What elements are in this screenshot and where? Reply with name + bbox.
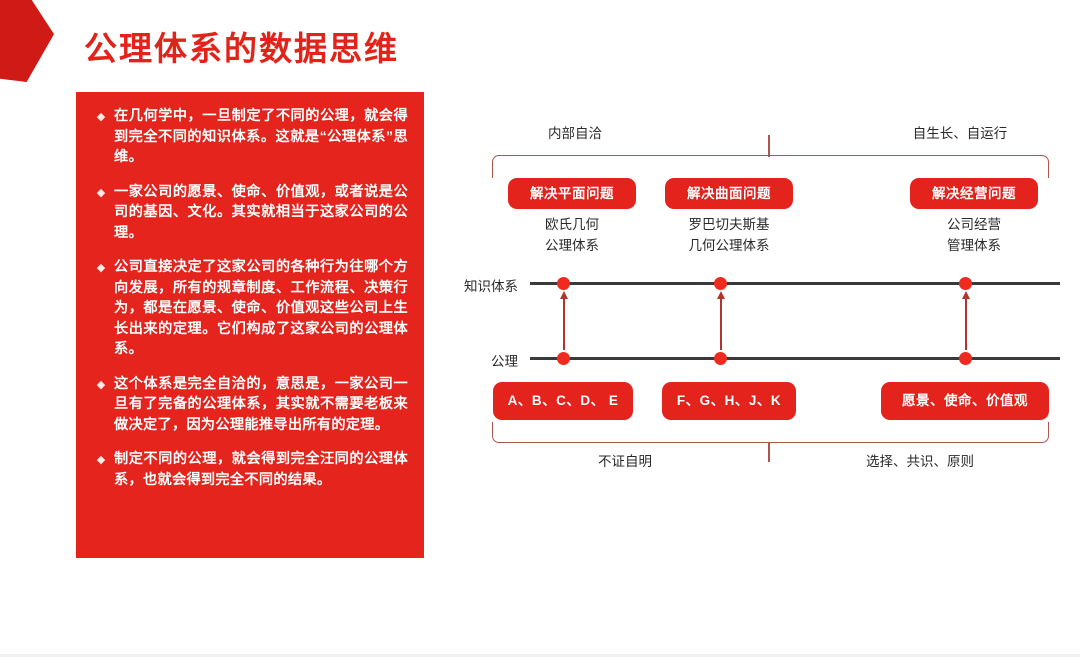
derivation-arrow-2 [720,298,722,350]
bottom-box-vision-mission-values[interactable]: 愿景、使命、价值观 [881,382,1049,420]
top-group-label-right: 自生长、自运行 [913,122,1008,142]
sub-label-lobachevsky: 罗巴切夫斯基 几何公理体系 [689,214,770,256]
top-box-plane-problem[interactable]: 解决平面问题 [508,178,636,209]
top-bracket-divider-tick [768,135,770,157]
bottom-bracket [492,422,1049,443]
top-box-curved-problem[interactable]: 解决曲面问题 [665,178,793,209]
bullet-panel: ◆ 在几何学中，一旦制定了不同的公理，就会得到完全不同的知识体系。这就是“公理体… [76,92,424,558]
knowledge-axis-dot-3 [959,277,972,290]
bottom-bracket-divider-tick [768,442,770,462]
knowledge-axis-dot-2 [714,277,727,290]
bullet-text: 一家公司的愿景、使命、价值观，或者说是公司的基因、文化。其实就相当于这家公司的公… [114,182,408,244]
axiom-axis-dot-3 [959,352,972,365]
axiom-axis-line [530,357,1060,360]
axis-label-axiom: 公理 [440,350,518,370]
knowledge-axis-dot-1 [557,277,570,290]
top-group-label-left: 内部自洽 [548,122,602,142]
list-item: ◆ 一家公司的愿景、使命、价值观，或者说是公司的基因、文化。其实就相当于这家公司… [88,182,408,244]
diamond-bullet-icon: ◆ [88,257,114,279]
knowledge-axis-line [530,282,1060,285]
list-item: ◆ 公司直接决定了这家公司的各种行为往哪个方向发展，所有的规章制度、工作流程、决… [88,257,408,360]
list-item: ◆ 制定不同的公理，就会得到完全汪同的公理体系，也就会得到完全不同的结果。 [88,449,408,490]
diamond-bullet-icon: ◆ [88,374,114,396]
slide-canvas: 公理体系的数据思维 ◆ 在几何学中，一旦制定了不同的公理，就会得到完全不同的知识… [0,0,1080,657]
bottom-group-label-left: 不证自明 [598,450,652,470]
bullet-text: 这个体系是完全自洽的，意思是，一家公司一旦有了完备的公理体系，其实就不需要老板来… [114,374,408,436]
top-bracket [492,155,1049,178]
bottom-group-label-right: 选择、共识、原则 [866,450,974,470]
top-box-business-problem[interactable]: 解决经营问题 [910,178,1038,209]
axiom-axis-dot-2 [714,352,727,365]
bullet-text: 公司直接决定了这家公司的各种行为往哪个方向发展，所有的规章制度、工作流程、决策行… [114,257,408,360]
sub-label-company-management: 公司经营 管理体系 [947,214,1001,256]
bottom-box-axioms-fghjk[interactable]: F、G、H、J、K [662,382,796,420]
bullet-text: 在几何学中，一旦制定了不同的公理，就会得到完全不同的知识体系。这就是“公理体系”… [114,106,408,168]
sub-label-euclidean: 欧氏几何 公理体系 [545,214,599,256]
page-title: 公理体系的数据思维 [84,22,399,70]
derivation-arrow-3 [965,298,967,350]
diamond-bullet-icon: ◆ [88,449,114,471]
corner-pentagon-accent [0,0,54,82]
axis-label-knowledge-system: 知识体系 [440,275,518,295]
axiom-axis-dot-1 [557,352,570,365]
bullet-list: ◆ 在几何学中，一旦制定了不同的公理，就会得到完全不同的知识体系。这就是“公理体… [76,92,424,514]
diamond-bullet-icon: ◆ [88,106,114,128]
bullet-text: 制定不同的公理，就会得到完全汪同的公理体系，也就会得到完全不同的结果。 [114,449,408,490]
bottom-box-axioms-abcde[interactable]: A、B、C、D、 E [493,382,633,420]
list-item: ◆ 在几何学中，一旦制定了不同的公理，就会得到完全不同的知识体系。这就是“公理体… [88,106,408,168]
derivation-arrow-1 [563,298,565,350]
list-item: ◆ 这个体系是完全自洽的，意思是，一家公司一旦有了完备的公理体系，其实就不需要老… [88,374,408,436]
axiom-system-diagram: 内部自洽 自生长、自运行 解决平面问题 解决曲面问题 解决经营问题 欧氏几何 公… [440,110,1070,490]
diamond-bullet-icon: ◆ [88,182,114,204]
